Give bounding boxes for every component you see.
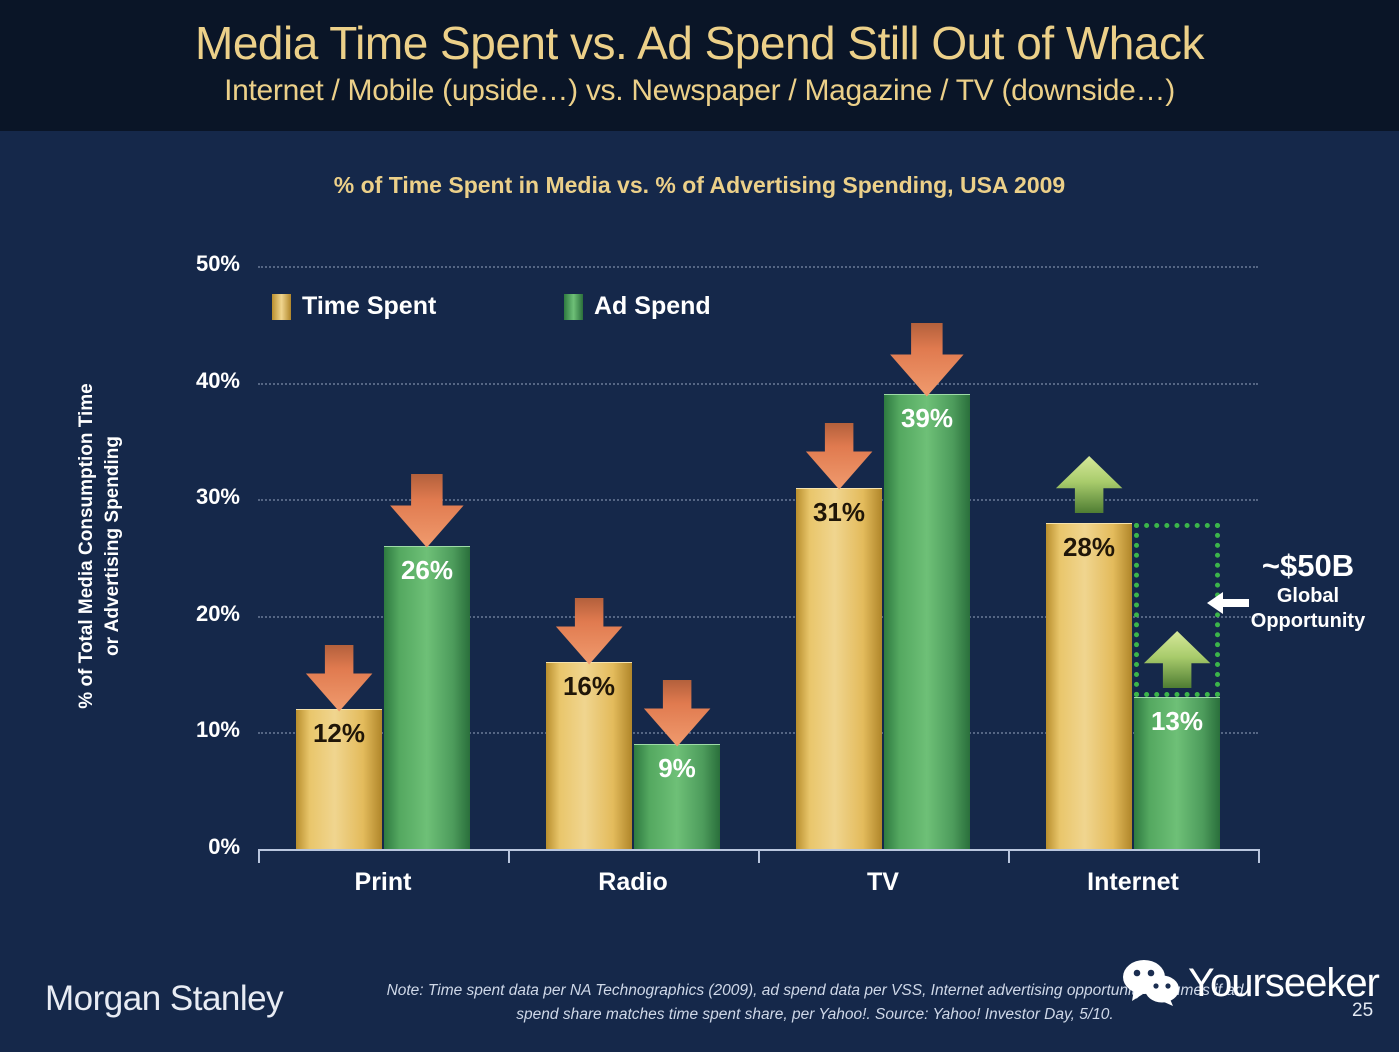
legend-label: Ad Spend: [594, 292, 711, 321]
gridline: [258, 383, 1258, 385]
down-arrow-icon: [304, 645, 374, 713]
bar-tv-time-spent[interactable]: 31%: [796, 488, 882, 849]
x-axis-tick: [1258, 849, 1260, 863]
legend-swatch-icon: [272, 294, 291, 320]
y-axis-title-line-1: % of Total Media Consumption Time: [74, 266, 100, 826]
callout-line-2: Opportunity: [1218, 609, 1398, 634]
down-arrow-icon: [554, 598, 624, 666]
down-arrow-icon: [888, 323, 966, 399]
y-axis-tick-label: 10%: [120, 717, 240, 743]
bar-value-label: 12%: [296, 718, 382, 749]
down-arrow-icon: [642, 680, 712, 748]
legend-label: Time Spent: [302, 292, 436, 321]
category-label-radio: Radio: [508, 868, 758, 897]
footnote-line-1: Note: Time spent data per NA Technograph…: [305, 979, 1325, 1003]
y-axis-tick-label: 0%: [120, 834, 240, 860]
bar-print-ad-spend[interactable]: 26%: [384, 546, 470, 849]
opportunity-callout: ~$50B Global Opportunity: [1218, 548, 1398, 634]
x-axis-tick: [258, 849, 260, 863]
bar-value-label: 26%: [384, 555, 470, 586]
bar-value-label: 16%: [546, 671, 632, 702]
gridline: [258, 266, 1258, 268]
chart-title: % of Time Spent in Media vs. % of Advert…: [0, 172, 1399, 199]
callout-line-1: Global: [1218, 584, 1398, 609]
bar-value-label: 39%: [884, 403, 970, 434]
footnote: Note: Time spent data per NA Technograph…: [305, 979, 1325, 1027]
footnote-line-2: spend share matches time spent share, pe…: [305, 1003, 1325, 1027]
category-label-internet: Internet: [1008, 868, 1258, 897]
legend-swatch-icon: [564, 294, 583, 320]
x-axis-tick: [508, 849, 510, 863]
category-label-print: Print: [258, 868, 508, 897]
legend-item-time-spent[interactable]: Time Spent: [272, 292, 436, 321]
y-axis-tick-label: 20%: [120, 601, 240, 627]
bar-print-time-spent[interactable]: 12%: [296, 709, 382, 849]
legend-item-ad-spend[interactable]: Ad Spend: [564, 292, 711, 321]
bar-tv-ad-spend[interactable]: 39%: [884, 394, 970, 849]
slide-subtitle: Internet / Mobile (upside…) vs. Newspape…: [0, 74, 1399, 108]
y-axis-title: % of Total Media Consumption Time or Adv…: [74, 266, 126, 826]
up-arrow-icon: [1054, 456, 1124, 515]
y-axis-tick-label: 50%: [120, 251, 240, 277]
bar-value-label: 31%: [796, 497, 882, 528]
bar-internet-ad-spend[interactable]: 13%: [1134, 697, 1220, 849]
slide-title: Media Time Spent vs. Ad Spend Still Out …: [0, 16, 1399, 70]
morgan-stanley-logo: Morgan Stanley: [45, 979, 283, 1019]
category-label-tv: TV: [758, 868, 1008, 897]
callout-amount: ~$50B: [1218, 548, 1398, 584]
x-axis-tick: [1008, 849, 1010, 863]
bar-radio-ad-spend[interactable]: 9%: [634, 744, 720, 849]
down-arrow-icon: [388, 474, 466, 550]
bar-internet-time-spent[interactable]: 28%: [1046, 523, 1132, 849]
bar-value-label: 28%: [1046, 532, 1132, 563]
bar-radio-time-spent[interactable]: 16%: [546, 662, 632, 849]
bar-value-label: 9%: [634, 753, 720, 784]
bar-value-label: 13%: [1134, 706, 1220, 737]
page-number: 25: [1352, 1000, 1373, 1022]
down-arrow-icon: [804, 423, 874, 491]
y-axis-tick-label: 30%: [120, 484, 240, 510]
y-axis-tick-label: 40%: [120, 368, 240, 394]
x-axis-tick: [758, 849, 760, 863]
